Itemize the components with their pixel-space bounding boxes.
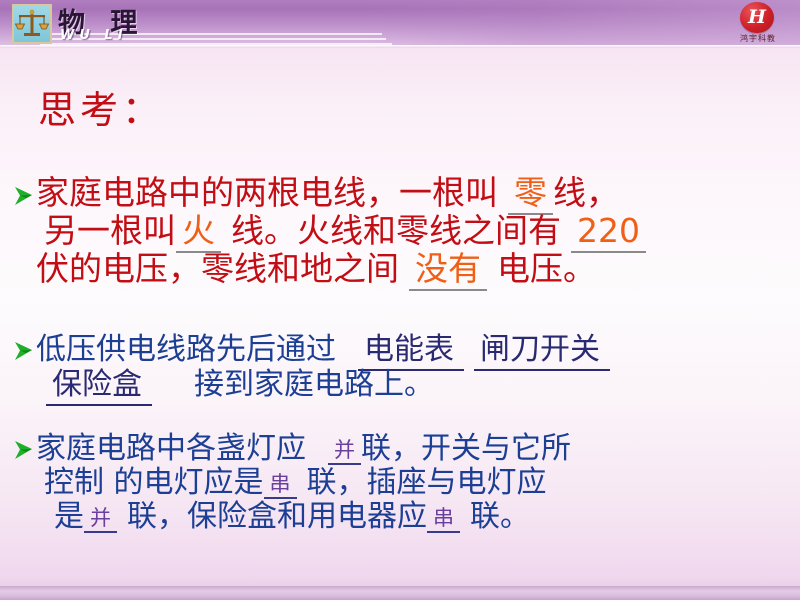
text-segment: 是 [54,499,84,534]
footer-strip [0,586,800,600]
corp-name: 鸿宇科教 [730,33,786,44]
answer-blank: 保险盒 [46,367,152,406]
text-segment: 线， [553,173,619,212]
answer-blank: 零 [508,173,553,215]
text-segment: 家庭电路中各盏灯应 [36,431,306,466]
answer-blank: 并 [328,438,361,465]
text-segment: 联，插座与电灯应 [307,465,547,500]
text-segment: 伏的电压，零线和地之间 [36,249,399,288]
subject-pinyin: WU LI [60,28,128,43]
text-segment: 联，保险盒和用电器应 [127,499,427,534]
green-arrow-bullet-icon [14,179,36,201]
text-segment: 另一根叫 [44,211,176,250]
question-line: 低压供电线路先后通过电能表闸刀开关 [14,335,794,365]
answer-blank: 火 [176,211,221,253]
balance-scale-icon [12,4,52,44]
answer-blank: 并 [84,506,117,533]
question-line: 家庭电路中各盏灯应并联，开关与它所 [14,434,794,464]
green-arrow-bullet-icon [14,437,36,459]
question-block-2: 低压供电线路先后通过电能表闸刀开关 保险盒接到家庭电路上。 [14,335,794,405]
answer-blank: 闸刀开关 [474,332,610,371]
text-segment: 联。 [470,499,530,534]
text-segment: 联，开关与它所 [361,431,571,466]
question-block-3: 家庭电路中各盏灯应并联，开关与它所 控制 的电灯应是串联，插座与电灯应 是并联，… [14,434,794,536]
question-block-1: 家庭电路中的两根电线，一根叫零线， 另一根叫火线。火线和零线之间有220 伏的电… [14,176,794,290]
page-title: 思考： [38,79,164,134]
green-arrow-bullet-icon [14,338,36,360]
text-segment: 低压供电线路先后通过 [36,332,336,367]
answer-blank: 串 [264,472,297,499]
answer-blank: 没有 [409,249,487,291]
corporate-logo: H 鸿宇科教 [732,2,784,46]
slide-header-banner: 物 理 WU LI H 鸿宇科教 [0,0,800,48]
question-line: 伏的电压，零线和地之间没有电压。 [14,252,794,285]
text-segment: 家庭电路中的两根电线，一根叫 [36,173,498,212]
text-segment: 接到家庭电路上。 [194,367,434,402]
question-line: 家庭电路中的两根电线，一根叫零线， [14,176,794,209]
question-line: 另一根叫火线。火线和零线之间有220 [14,214,794,247]
answer-blank: 串 [427,506,460,533]
answer-blank: 220 [571,211,646,253]
question-line: 是并联，保险盒和用电器应串联。 [14,502,794,532]
corp-circle-badge-icon: H [740,2,774,33]
text-segment: 线。火线和零线之间有 [231,211,561,250]
corp-letter: H [740,2,774,33]
header-divider [0,45,800,48]
answer-blank: 电能表 [358,332,464,371]
text-segment: 电压。 [497,249,596,288]
slide-canvas: 物 理 WU LI H 鸿宇科教 思考： 家庭电路中的两根电线，一根叫零线， 另… [0,0,800,600]
question-line: 控制 的电灯应是串联，插座与电灯应 [14,468,794,498]
question-line: 保险盒接到家庭电路上。 [14,370,794,400]
text-segment: 控制 的电灯应是 [44,465,264,500]
